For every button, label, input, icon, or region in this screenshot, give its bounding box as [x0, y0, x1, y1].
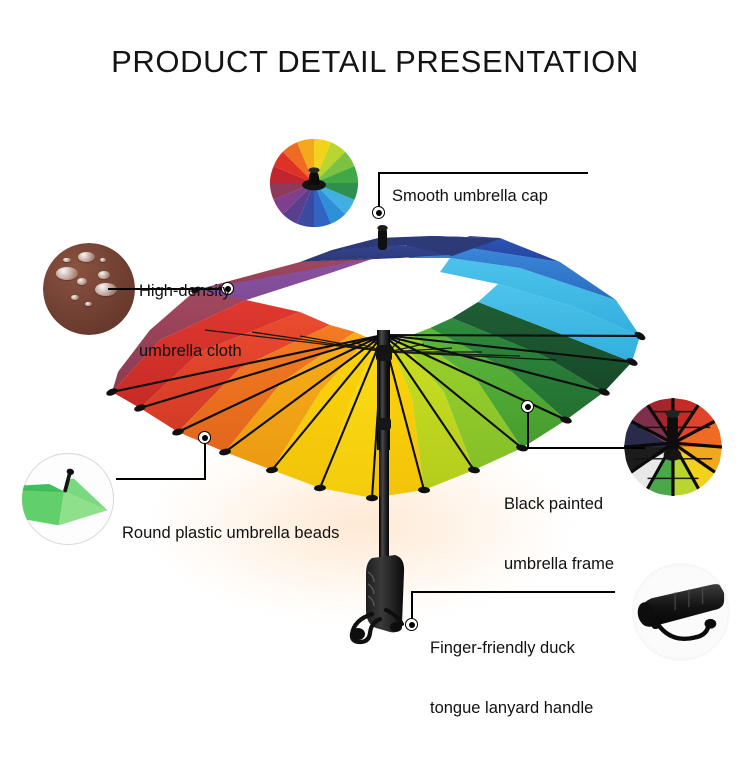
- callout-marker-smooth-umbrella-cap[interactable]: [372, 206, 385, 219]
- leader-line-frame-horizontal: [527, 447, 645, 449]
- label-line: tongue lanyard handle: [430, 698, 593, 718]
- leader-line-frame-vertical: [527, 410, 529, 448]
- callout-marker-round-plastic-umbrella-beads[interactable]: [198, 431, 211, 444]
- umbrella-shaft: [376, 330, 392, 560]
- product-detail-page: PRODUCT DETAIL PRESENTATION: [0, 0, 750, 750]
- callout-label-black-painted-umbrella-frame: Black painted umbrella frame: [504, 454, 614, 614]
- callout-label-round-plastic-umbrella-beads: Round plastic umbrella beads: [122, 483, 339, 583]
- water-droplet: [56, 267, 78, 280]
- inset-round-plastic-umbrella-beads: [21, 452, 115, 546]
- leader-line-cap-vertical: [378, 172, 380, 208]
- umbrella-handle: [351, 555, 404, 642]
- callout-label-high-density-umbrella-cloth: High-density umbrella cloth: [139, 241, 242, 401]
- water-droplet: [71, 295, 79, 301]
- label-line: Finger-friendly duck: [430, 638, 593, 658]
- label-line: Round plastic umbrella beads: [122, 523, 339, 543]
- label-line: umbrella cloth: [139, 341, 242, 361]
- inset-smooth-umbrella-cap: [268, 137, 360, 229]
- water-droplet: [63, 258, 70, 263]
- inset-finger-friendly-duck-tongue-lanyard-handle: [632, 563, 730, 661]
- label-line: Smooth umbrella cap: [392, 186, 548, 206]
- callout-marker-black-painted-umbrella-frame[interactable]: [521, 400, 534, 413]
- label-line: Black painted: [504, 494, 614, 514]
- callout-label-smooth-umbrella-cap: Smooth umbrella cap: [392, 146, 548, 246]
- leader-line-beads-horizontal: [116, 478, 206, 480]
- leader-line-beads-vertical: [204, 441, 206, 479]
- label-line: High-density: [139, 281, 242, 301]
- callout-marker-finger-friendly-handle[interactable]: [405, 618, 418, 631]
- water-droplet: [98, 271, 110, 279]
- umbrella-cap-finial: [377, 225, 387, 250]
- callout-label-finger-friendly-handle: Finger-friendly duck tongue lanyard hand…: [430, 598, 593, 758]
- label-line: umbrella frame: [504, 554, 614, 574]
